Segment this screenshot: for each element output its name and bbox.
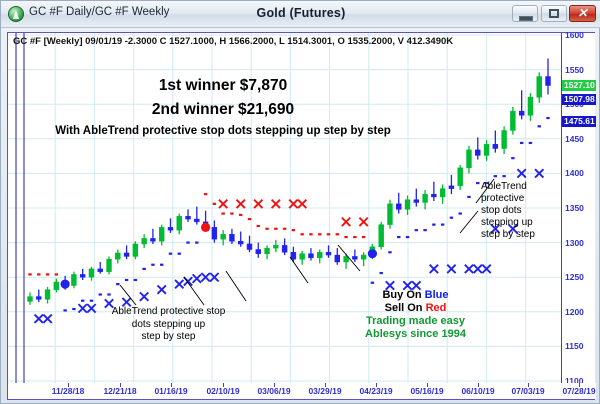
stop-dot [476,182,479,184]
price-tick-1250: 1250 [565,272,584,282]
date-tick-7: 05/16/19 [410,386,443,396]
stop-dot [371,282,374,284]
left-callout-line-2: dots stepping up [66,319,271,332]
stop-dot [327,233,330,235]
stop-dot [511,157,514,159]
buy-on-blue-text: Buy On Blue [338,289,493,302]
sell-on-red-text: Sell On Red [338,302,493,315]
date-tick-6: 04/23/19 [359,386,392,396]
date-tick-mark-2 [171,383,172,387]
date-tick-mark-8 [478,383,479,387]
stop-dot [90,300,93,302]
window-title: Gold (Futures) [1,6,600,20]
stop-dot [213,203,216,205]
stop-dot [230,212,233,214]
stop-dot [239,214,242,216]
price-tick-1400: 1400 [565,168,584,178]
stop-dot [257,225,260,227]
tagline-2: Ablesys since 1994 [338,328,493,341]
stop-dot [397,236,400,238]
date-axis[interactable]: 11/28/1812/21/1801/16/1902/10/1903/06/19… [8,383,596,399]
left-callout-line-1: AbleTrend protective stop [66,306,271,319]
stop-dot [178,253,181,255]
right-callout-line-4: stepping up [481,217,535,229]
stop-dot [353,236,356,238]
right-callout-line-2: protective [481,193,535,205]
stop-dot [160,264,163,266]
tagline-1: Trading made easy [338,315,493,328]
sell-signal-dot [201,223,210,232]
left-callout-line-3: step by step [66,331,271,344]
minimize-icon [519,16,533,21]
stop-dot [195,242,198,244]
stop-dot [362,236,365,238]
maximize-icon [549,9,559,18]
stop-dot [459,212,462,214]
stop-dot [125,279,128,281]
date-tick-1: 12/21/18 [103,386,136,396]
price-tick-1350: 1350 [565,203,584,213]
date-tick-mark-0 [68,383,69,387]
sell-color-word: Red [426,302,447,314]
price-tag-stop-level: 1507.98 [562,94,596,105]
stop-dot [318,233,321,235]
stop-dot [538,125,541,127]
stop-dot [502,175,505,177]
stop-dot [423,229,426,231]
buy-signal-dot [61,280,70,289]
stop-dot [283,228,286,230]
stop-dot [46,273,49,275]
stop-dot [142,268,145,270]
price-tag-stop-level: 1475.61 [562,116,596,127]
stop-dot [116,283,119,285]
stop-dot [107,293,110,295]
stop-dot [28,273,31,275]
headline-description: With AbleTrend protective stop dots step… [8,125,438,137]
stop-dot [204,193,207,195]
stop-dot [406,236,409,238]
date-tick-8: 06/10/19 [461,386,494,396]
price-axis[interactable]: 1600155015001450140013501300125012001150… [561,33,595,383]
stop-dot [415,229,418,231]
stop-dot [81,300,84,302]
price-tick-1300: 1300 [565,238,584,248]
right-callout: AbleTrend protective stop dots stepping … [481,181,535,241]
stop-dot [221,212,224,214]
date-tick-mark-5 [325,383,326,387]
date-tick-mark-3 [223,383,224,387]
stop-dot [292,229,295,231]
date-tick-9: 07/03/19 [511,386,544,396]
price-tick-1200: 1200 [565,307,584,317]
price-tick-1550: 1550 [565,65,584,75]
price-tick-1600: 1600 [565,30,584,40]
headline-second-winner: 2nd winner $21,690 [8,101,438,119]
stop-dot [169,253,172,255]
stop-dot [467,196,470,198]
stop-dot [520,142,523,144]
close-icon: ✕ [570,6,595,21]
date-tick-0: 11/28/18 [52,386,85,396]
stop-dot [494,175,497,177]
left-callout: AbleTrend protective stop dots stepping … [66,306,271,344]
chart-container: GC #F [Weekly] 09/01/19 -2.3000 C 1527.1… [7,32,595,400]
date-tick-mark-4 [274,383,275,387]
maximize-button[interactable] [541,5,567,22]
candlesticks [28,59,551,305]
trading-legend: Buy On Blue Sell On Red Trading made eas… [338,289,493,341]
date-tick-2: 01/16/19 [154,386,187,396]
stop-dot [134,279,137,281]
stop-dot [55,273,58,275]
stop-dot [388,251,391,253]
date-tick-mark-1 [120,383,121,387]
stop-dot [441,224,444,226]
stop-dot [274,228,277,230]
price-tag-last-price: 1527.10 [562,80,596,91]
right-callout-line-3: stop dots [481,205,535,217]
date-tick-mark-10 [579,383,580,387]
stop-dot [186,242,189,244]
stop-dot [432,224,435,226]
stop-dot [529,142,532,144]
buy-color-word: Blue [425,289,449,301]
price-tick-1150: 1150 [565,341,583,351]
date-tick-5: 03/29/19 [308,386,341,396]
right-callout-line-5: step by step [481,229,535,241]
quote-header-text: GC #F [Weekly] 09/01/19 -2.3000 C 1527.1… [13,36,453,47]
buy-prefix: Buy On [382,289,424,301]
sell-prefix: Sell On [385,302,426,314]
stop-dot [309,233,312,235]
stop-dot [300,233,303,235]
stop-dot [248,218,251,220]
date-tick-4: 03/06/19 [257,386,290,396]
application-window: GC #F Daily/GC #F Weekly Gold (Futures) … [0,0,600,404]
stop-dot [37,273,40,275]
price-tick-1450: 1450 [565,134,584,144]
stop-dot [336,233,339,235]
date-tick-3: 02/10/19 [206,386,239,396]
stop-dot [151,264,154,266]
minimize-button[interactable] [512,5,538,22]
stop-dot [379,272,382,274]
close-button[interactable]: ✕ [569,5,596,22]
date-tick-mark-9 [528,383,529,387]
stop-dot [265,228,268,230]
stop-dot [450,217,453,219]
title-bar: GC #F Daily/GC #F Weekly Gold (Futures) … [1,1,600,28]
headline-first-winner: 1st winner $7,870 [8,77,438,95]
date-tick-mark-7 [427,383,428,387]
abletrend-stop-dots [28,117,549,312]
buy-signal-dot [368,249,377,258]
stop-dot [99,293,102,295]
date-tick-10: 07/28/19 [562,386,595,396]
chart-plot-area[interactable]: GC #F [Weekly] 09/01/19 -2.3000 C 1527.1… [8,33,561,383]
stop-dot [546,117,549,119]
date-tick-mark-6 [376,383,377,387]
right-callout-line-1: AbleTrend [481,181,535,193]
stop-dot [344,236,347,238]
